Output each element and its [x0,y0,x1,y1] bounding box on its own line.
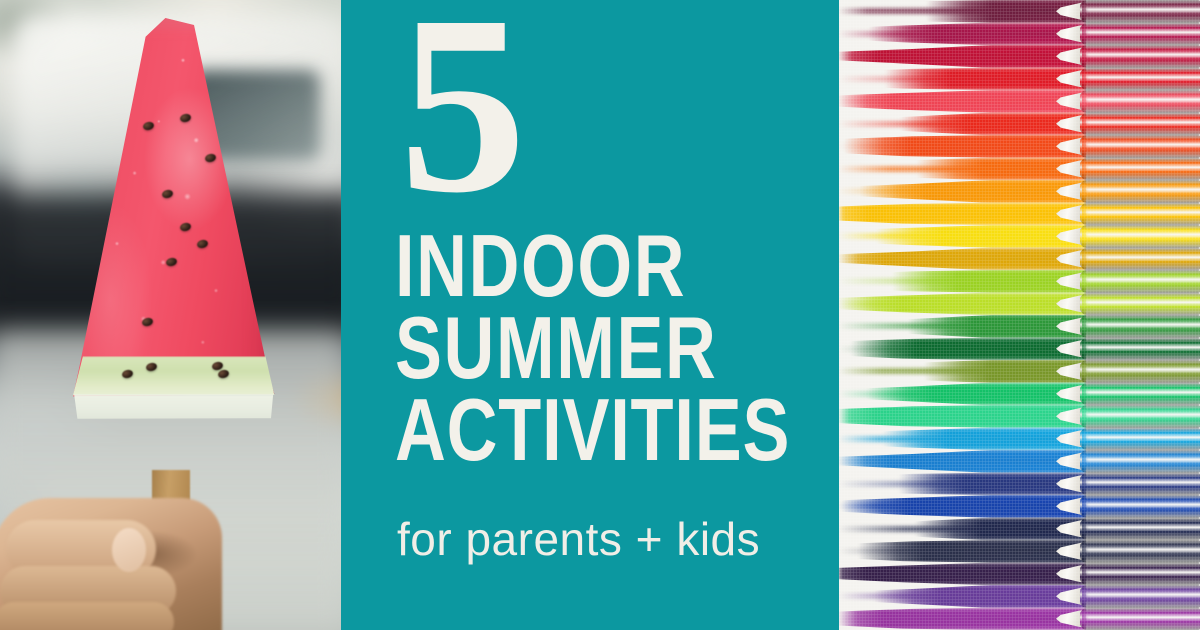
crayon-row [838,68,1200,91]
crayon-row [838,293,1200,316]
crayon-barrel [1080,135,1200,158]
wax-runner-streak [838,211,1086,217]
crayon-barrel [1080,248,1200,271]
wax-runner-streak [838,98,1086,104]
wax-runner-streak [838,391,1086,397]
crayon-barrel-body [1080,23,1200,46]
crayon-barrel [1080,203,1200,226]
wax-runner-streak [838,323,1086,329]
crayon-barrel [1080,68,1200,91]
crayon-barrel [1080,518,1200,541]
crayon-row [838,405,1200,428]
right-photo-melted-crayon-art [830,0,1200,630]
crayon-row [838,90,1200,113]
crayon-barrel-body [1080,338,1200,361]
crayon-barrel-body [1080,518,1200,541]
crayon-row [838,45,1200,68]
crayon-barrel [1080,495,1200,518]
crayon-row [838,608,1200,630]
left-photo-watermelon-popsicle [0,0,341,630]
wax-runner-streak [838,278,1086,284]
crayon-barrel-body [1080,113,1200,136]
crayon-barrel [1080,180,1200,203]
wax-runner-streak [838,413,1086,419]
crayon-barrel [1080,540,1200,563]
crayon-barrel-body [1080,135,1200,158]
crayon-row-list [838,0,1200,630]
crayon-barrel-body [1080,158,1200,181]
popsicle-white-rind [62,394,282,422]
crayon-row [838,113,1200,136]
crayon-barrel-body [1080,540,1200,563]
crayon-barrel [1080,90,1200,113]
crayon-row [838,585,1200,608]
center-teal-title-panel: 5 INDOOR SUMMER ACTIVITIES for parents +… [341,0,830,630]
wax-runner-streak [838,76,1086,82]
crayon-barrel-body [1080,203,1200,226]
crayon-barrel [1080,293,1200,316]
subtitle: for parents + kids [397,512,760,566]
crayon-row [838,270,1200,293]
crayon-row [838,495,1200,518]
crayon-barrel-body [1080,90,1200,113]
wax-runner-streak [838,233,1086,239]
wax-runner-streak [838,616,1086,622]
finger [0,602,174,630]
wax-runner-streak [838,571,1086,577]
headline-number: 5 [399,0,521,233]
crayon-barrel [1080,405,1200,428]
wax-runner-streak [838,166,1086,172]
wax-runner-streak [838,346,1086,352]
teal-edge-strip [830,0,839,630]
crayon-row [838,315,1200,338]
crayon-row [838,180,1200,203]
headline-line-1: INDOOR [395,226,747,305]
wax-runner-streak [838,368,1086,374]
crayon-barrel-body [1080,270,1200,293]
wax-runner-streak [838,436,1086,442]
wax-runner-streak [838,481,1086,487]
crayon-barrel [1080,608,1200,630]
crayon-barrel [1080,473,1200,496]
crayon-row [838,158,1200,181]
crayon-barrel [1080,428,1200,451]
crayon-barrel-body [1080,293,1200,316]
crayon-barrel-body [1080,248,1200,271]
wax-runner-streak [838,593,1086,599]
wax-runner-streak [838,8,1086,14]
wax-runner-streak [838,121,1086,127]
crayon-barrel-body [1080,473,1200,496]
wax-runner-streak [838,143,1086,149]
crayon-barrel [1080,338,1200,361]
crayon-barrel [1080,225,1200,248]
wax-runner-streak [838,503,1086,509]
crayon-row [838,450,1200,473]
crayon-row [838,383,1200,406]
crayon-barrel [1080,450,1200,473]
crayon-barrel-body [1080,495,1200,518]
crayon-barrel-body [1080,0,1200,23]
crayon-barrel [1080,360,1200,383]
crayon-barrel [1080,270,1200,293]
crayon-row [838,338,1200,361]
wax-runner-streak [838,526,1086,532]
fingernail [112,528,146,572]
crayon-barrel-body [1080,608,1200,630]
crayon-row [838,203,1200,226]
crayon-barrel [1080,23,1200,46]
crayon-barrel-body [1080,68,1200,91]
wax-runner-streak [838,53,1086,59]
crayon-barrel [1080,315,1200,338]
crayon-barrel-body [1080,383,1200,406]
crayon-barrel [1080,383,1200,406]
crayon-barrel [1080,158,1200,181]
crayon-row [838,225,1200,248]
wax-runner-streak [838,31,1086,37]
crayon-barrel [1080,113,1200,136]
crayon-barrel [1080,585,1200,608]
title-text-block: 5 INDOOR SUMMER ACTIVITIES for parents +… [395,0,830,630]
crayon-row [838,563,1200,586]
headline-line-2: SUMMER [395,308,747,387]
crayon-row [838,23,1200,46]
crayon-barrel-body [1080,225,1200,248]
crayon-barrel-body [1080,405,1200,428]
crayon-canvas [838,0,1200,630]
wax-runner-streak [838,301,1086,307]
crayon-row [838,248,1200,271]
crayon-row [838,428,1200,451]
crayon-barrel-body [1080,315,1200,338]
watermelon-popsicle [62,18,282,488]
crayon-barrel-body [1080,450,1200,473]
social-share-graphic: 5 INDOOR SUMMER ACTIVITIES for parents +… [0,0,1200,630]
crayon-row [838,473,1200,496]
wax-runner-streak [838,458,1086,464]
wax-runner-streak [838,256,1086,262]
wax-runner-streak [838,548,1086,554]
crayon-row [838,540,1200,563]
crayon-barrel-body [1080,360,1200,383]
crayon-barrel-body [1080,585,1200,608]
crayon-barrel [1080,563,1200,586]
headline-line-3: ACTIVITIES [395,390,747,469]
crayon-row [838,518,1200,541]
headline-group: INDOOR SUMMER ACTIVITIES [395,226,830,470]
crayon-barrel-body [1080,563,1200,586]
crayon-barrel-body [1080,428,1200,451]
crayon-row [838,0,1200,23]
crayon-barrel-body [1080,180,1200,203]
crayon-barrel [1080,45,1200,68]
crayon-row [838,360,1200,383]
wax-runner-streak [838,188,1086,194]
crayon-barrel [1080,0,1200,23]
crayon-barrel-body [1080,45,1200,68]
crayon-row [838,135,1200,158]
